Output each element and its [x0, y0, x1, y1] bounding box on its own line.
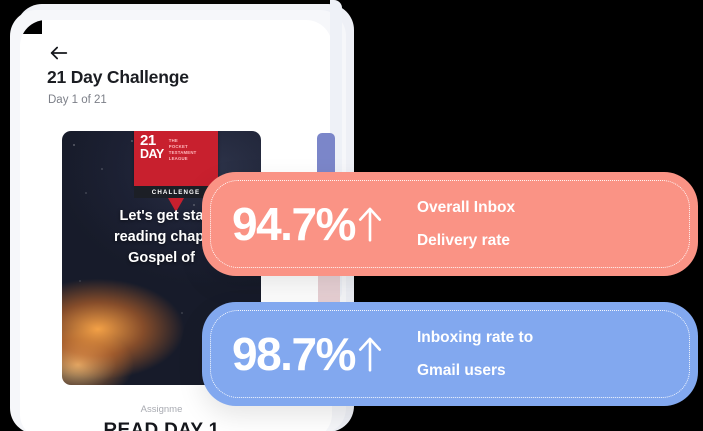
banner-day-label: DAY: [140, 148, 164, 162]
corner-notch: [20, 20, 42, 34]
gmail-rate-label-line-1: Inboxing rate to: [417, 321, 533, 354]
banner-number: 21: [140, 134, 164, 148]
delivery-rate-value-group: 94.7%: [202, 201, 383, 247]
gmail-rate-label-line-2: Gmail users: [417, 354, 533, 387]
arrow-up-icon: [357, 334, 383, 374]
stat-badge-gmail-inboxing[interactable]: 98.7% Inboxing rate to Gmail users: [202, 302, 698, 406]
arrow-left-icon[interactable]: [48, 42, 70, 64]
gmail-rate-label: Inboxing rate to Gmail users: [417, 321, 533, 387]
gmail-rate-value-group: 98.7%: [202, 331, 383, 377]
delivery-rate-label-line-1: Overall Inbox: [417, 191, 515, 224]
read-day-button[interactable]: READ DAY 1: [62, 420, 261, 431]
page-title: 21 Day Challenge: [47, 67, 189, 88]
delivery-rate-label: Overall Inbox Delivery rate: [417, 191, 515, 257]
challenge-banner: 21 DAY THE POCKET TESTAMENT LEAGUE: [134, 131, 218, 186]
banner-league-line4: LEAGUE: [169, 156, 197, 162]
delivery-rate-value: 94.7%: [232, 201, 355, 247]
banner-title-block: 21 DAY: [134, 131, 164, 161]
screenshot-canvas: 21 Day Challenge Day 1 of 21 21 DAY THE …: [0, 0, 703, 431]
delivery-rate-label-line-2: Delivery rate: [417, 224, 515, 257]
stat-badge-delivery-rate[interactable]: 94.7% Overall Inbox Delivery rate: [202, 172, 698, 276]
arrow-up-icon: [357, 204, 383, 244]
banner-league-block: THE POCKET TESTAMENT LEAGUE: [164, 131, 197, 162]
gmail-rate-value: 98.7%: [232, 331, 355, 377]
page-subtitle: Day 1 of 21: [48, 94, 107, 106]
